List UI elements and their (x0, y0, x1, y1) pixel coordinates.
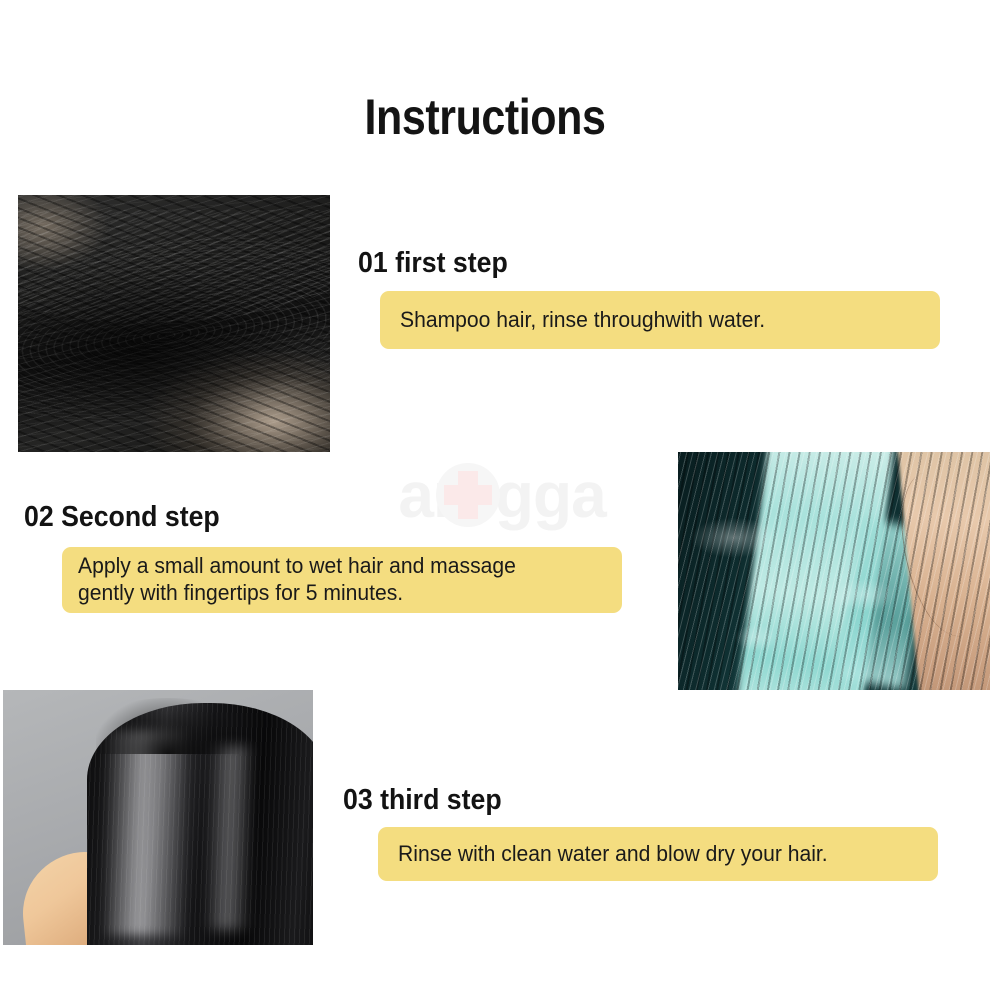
step-3-text: Rinse with clean water and blow dry your… (398, 841, 828, 868)
photo-1-shadow-overlay (18, 195, 330, 452)
step-1-photo-wet-tangled-hair (18, 195, 330, 452)
medical-cross-horizontal-bar (444, 485, 492, 505)
step-2-text: Apply a small amount to wet hair and mas… (78, 553, 516, 607)
page-title: Instructions (68, 88, 902, 146)
step-2-heading: 02 Second step (24, 501, 220, 534)
medical-cross-vertical-bar (458, 471, 478, 519)
photo-3-hair-crown-shadow (96, 698, 239, 754)
step-2-callout: Apply a small amount to wet hair and mas… (62, 547, 622, 613)
photo-2-wet-highlights (678, 452, 990, 690)
arogga-watermark: arogga (352, 455, 652, 535)
step-1-text: Shampoo hair, rinse throughwith water. (400, 307, 765, 334)
step-3-callout: Rinse with clean water and blow dry your… (378, 827, 938, 881)
medical-cross-icon (436, 463, 500, 527)
step-3-photo-glossy-straight-hair (3, 690, 313, 945)
step-1-heading: 01 first step (358, 247, 508, 280)
step-1-callout: Shampoo hair, rinse throughwith water. (380, 291, 940, 349)
instructions-page: Instructions arogga 01 first step Shampo… (0, 0, 1000, 1000)
step-3-heading: 03 third step (343, 784, 502, 817)
step-2-photo-teal-mask-on-hair (678, 452, 990, 690)
watermark-text: arogga (398, 463, 605, 527)
